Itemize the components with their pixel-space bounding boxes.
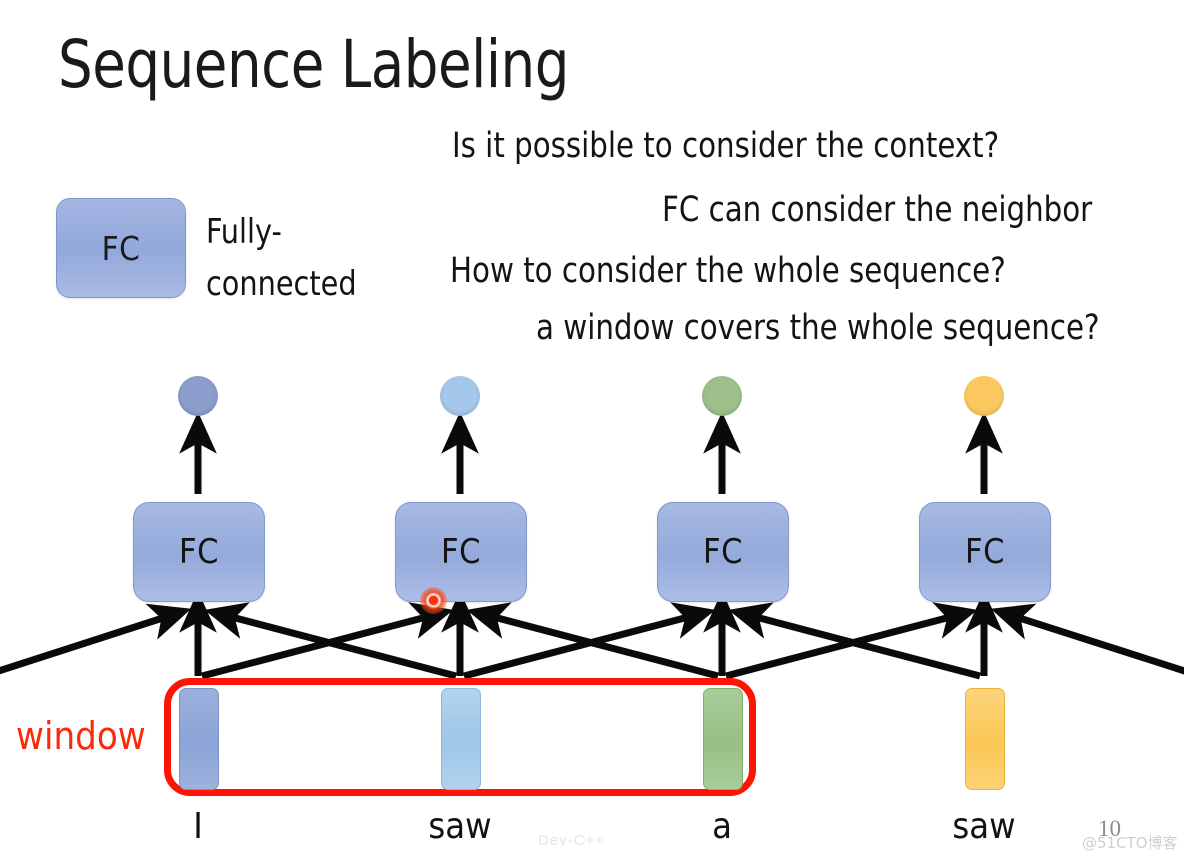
fc-node-label: FC [703, 532, 743, 572]
note-context-question: Is it possible to consider the context? [452, 126, 999, 166]
output-dot-a [702, 376, 742, 416]
legend-fc-box: FC [56, 198, 186, 298]
note-neighbor-answer: FC can consider the neighbor [662, 190, 1092, 230]
fc-node-label: FC [441, 532, 481, 572]
token-bar-saw2 [965, 688, 1005, 790]
output-dot-saw2 [964, 376, 1004, 416]
slide-canvas: Sequence Labeling Is it possible to cons… [0, 0, 1184, 855]
word-label-saw1: saw [428, 806, 491, 847]
legend-description-line2: connected [206, 258, 357, 310]
window-label: window [16, 714, 146, 758]
output-dot-i [178, 376, 218, 416]
fc-node-label: FC [179, 532, 219, 572]
page-title: Sequence Labeling [58, 26, 569, 103]
output-dot-saw1 [440, 376, 480, 416]
legend: FC Fully- connected [56, 198, 416, 304]
click-marker-icon [420, 587, 447, 614]
legend-description: Fully- connected [206, 206, 357, 310]
output-arrows [198, 432, 984, 494]
token-bar-saw1 [441, 688, 481, 790]
note-whole-sequence-question: How to consider the whole sequence? [450, 251, 1006, 291]
fc-node-saw2[interactable]: FC [919, 502, 1051, 602]
word-label-a: a [712, 806, 732, 847]
token-bar-i [179, 688, 219, 790]
watermark: @51CTO博客 [1082, 832, 1178, 853]
note-window-question: a window covers the whole sequence? [536, 308, 1100, 348]
word-label-i: I [193, 806, 203, 847]
fc-node-a[interactable]: FC [657, 502, 789, 602]
token-bar-a [703, 688, 743, 790]
background-app-label: Dev-C++ [538, 832, 605, 849]
fc-node-saw1[interactable]: FC [395, 502, 527, 602]
word-label-saw2: saw [952, 806, 1015, 847]
legend-fc-box-label: FC [102, 229, 141, 268]
fc-node-i[interactable]: FC [133, 502, 265, 602]
legend-description-line1: Fully- [206, 206, 357, 258]
fc-node-label: FC [965, 532, 1005, 572]
